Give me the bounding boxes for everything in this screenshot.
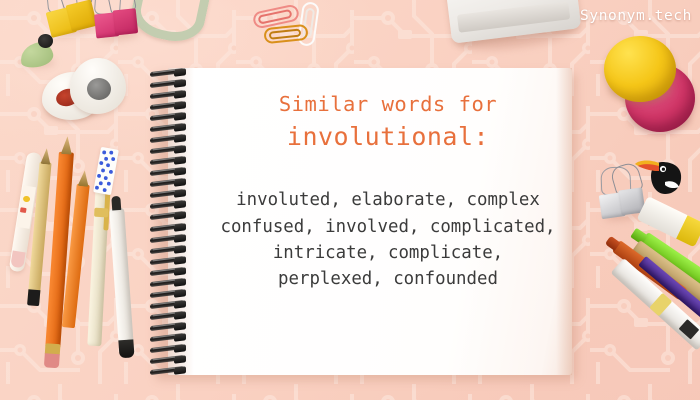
spiral-coil xyxy=(150,313,184,318)
synonym-line: perplexed, confounded xyxy=(220,266,555,292)
page-headword: involutional: xyxy=(287,121,489,154)
spiral-coil xyxy=(150,346,184,351)
page-text-block: Similar words for involutional: involute… xyxy=(212,68,564,375)
spiral-coil xyxy=(150,280,184,285)
spiral-coil xyxy=(150,125,184,130)
spiral-coil xyxy=(150,92,184,97)
spiral-notebook: Similar words for involutional: involute… xyxy=(150,68,574,378)
spiral-coil xyxy=(150,81,184,86)
spiral-coil xyxy=(150,103,184,108)
synonym-line: intricate, complicate, xyxy=(220,240,555,266)
spiral-coil xyxy=(150,368,184,373)
spiral-coil xyxy=(150,180,184,185)
synonym-line: confused, involved, complicated, xyxy=(220,214,555,240)
macaron-yellow xyxy=(604,36,676,102)
synonym-list: involuted, elaborate, complex confused, … xyxy=(220,187,555,293)
spiral-coil xyxy=(150,335,184,340)
bird-figurine-green xyxy=(18,34,58,68)
spiral-binding xyxy=(150,70,194,375)
spiral-coil xyxy=(150,291,184,296)
spiral-coil xyxy=(150,258,184,263)
page-title-prefix: Similar words for xyxy=(279,92,497,118)
spiral-coil xyxy=(150,269,184,274)
spiral-coil xyxy=(150,324,184,329)
site-logo: Synonym.tech xyxy=(580,8,692,24)
spiral-coil xyxy=(150,202,184,207)
spiral-coil xyxy=(150,225,184,230)
spiral-coil xyxy=(150,247,184,252)
notebook-page: Similar words for involutional: involute… xyxy=(168,68,572,375)
synonym-line: involuted, elaborate, complex xyxy=(220,187,555,213)
spiral-coil xyxy=(150,114,184,119)
stone-white-gray xyxy=(70,58,126,114)
spiral-coil xyxy=(150,236,184,241)
spiral-coil xyxy=(150,147,184,152)
spiral-coil xyxy=(150,213,184,218)
spiral-coil xyxy=(150,191,184,196)
spiral-coil xyxy=(150,136,184,141)
spiral-coil xyxy=(150,169,184,174)
spiral-coil xyxy=(150,70,184,75)
spiral-coil xyxy=(150,158,184,163)
binder-clip-pink xyxy=(93,4,144,43)
spiral-coil xyxy=(150,357,184,362)
spiral-coil xyxy=(150,302,184,307)
desk-background: Similar words for involutional: involute… xyxy=(0,0,700,400)
